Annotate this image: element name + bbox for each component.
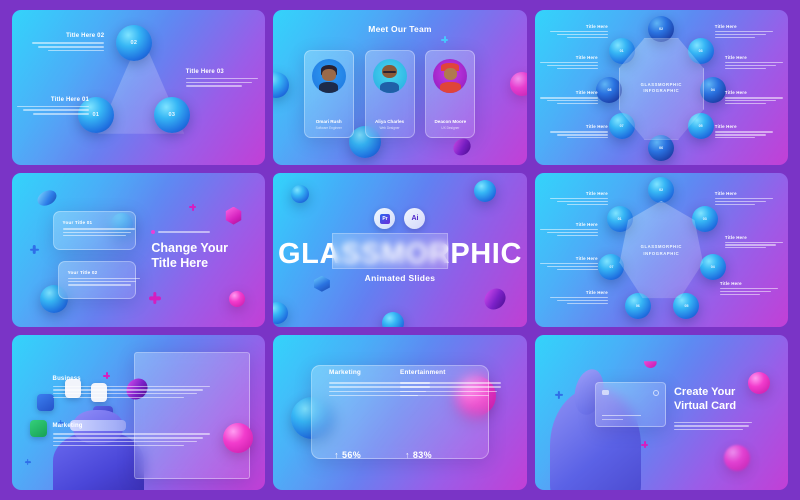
center-line-2: INFOGRAPHIC	[611, 251, 712, 258]
slide-business-marketing[interactable]: Business Marketing	[12, 335, 265, 490]
label-body	[715, 198, 773, 205]
heading-line-2: Title Here	[151, 256, 228, 271]
label-body	[550, 131, 608, 138]
label-title: Title Here	[725, 235, 783, 240]
premiere-icon: Pr	[380, 214, 390, 224]
center-line-1: GLASSMORPHIC	[611, 244, 712, 251]
info-label: Title Here	[720, 281, 778, 297]
node-label: 05	[684, 304, 688, 308]
decor-hexagon	[225, 207, 243, 225]
node-label-02: 02	[131, 40, 138, 46]
team-card-2[interactable]: Aliya Charles Web Designer	[365, 50, 415, 138]
label-body	[725, 242, 783, 249]
slide-octagon-infographic[interactable]: 02 03 04 05 06 07 08 01 GLASSMORPHIC INF…	[535, 10, 788, 165]
text-block-02: Title Here 02	[32, 33, 104, 53]
bullet-dot	[151, 230, 155, 234]
label-body	[540, 229, 598, 236]
decor-sphere	[223, 423, 253, 453]
stat-percent: 83%	[413, 450, 432, 460]
label-body	[540, 62, 598, 69]
node-label: 06	[636, 304, 640, 308]
decor-sphere	[273, 302, 287, 324]
stat-percent: 56%	[342, 450, 361, 460]
heading-line-1: Change Your	[151, 241, 228, 256]
team-card-3[interactable]: Deacon Moore UX Designer	[425, 50, 475, 138]
label-body	[550, 31, 608, 38]
node-label: 01	[618, 217, 622, 221]
decor-torus	[451, 136, 472, 158]
label-title: Title Here	[715, 124, 773, 129]
info-label: Title Here	[725, 90, 783, 106]
info-label: Title Here	[550, 24, 608, 40]
node-sphere[interactable]: 04	[700, 254, 726, 280]
arrow-up-icon: ↑	[334, 450, 339, 460]
decor-sphere	[724, 445, 750, 471]
contactless-icon	[653, 390, 659, 396]
slide-meet-our-team[interactable]: Meet Our Team Omari Rush Software Engine…	[273, 10, 526, 165]
node-label: 04	[711, 265, 715, 269]
info-label: Title Here	[715, 124, 773, 140]
center-line-1: GLASSMORPHIC	[611, 82, 712, 89]
section-body	[53, 433, 210, 446]
slide-stats-panel[interactable]: Marketing Entertainment ↑ 56% ↑ 83%	[273, 335, 526, 490]
slide-heading: Create Your Virtual Card	[674, 386, 736, 414]
center-line-2: INFOGRAPHIC	[611, 88, 712, 95]
text-block-01: Title Here 01	[17, 97, 89, 117]
label-body	[540, 97, 598, 104]
adobe-illustrator-badge[interactable]: Ai	[404, 208, 425, 229]
label-title: Title Here	[540, 90, 598, 95]
card-title: Your Title 01	[63, 220, 93, 225]
label-title: Title Here	[725, 90, 783, 95]
card-body	[63, 228, 135, 238]
label-body	[715, 31, 773, 38]
label-title: Title Here	[540, 55, 598, 60]
block-title: Title Here 01	[17, 97, 89, 103]
arrow-up-icon: ↑	[405, 450, 410, 460]
decor-sparkle	[441, 36, 448, 43]
info-label: Title Here	[715, 24, 773, 40]
kicker-row	[151, 230, 210, 234]
octagon-diagram: 02 03 04 05 06 07 08 01 GLASSMORPHIC INF…	[611, 29, 712, 150]
info-label: Title Here	[540, 90, 598, 106]
app-icon-gallery	[30, 420, 47, 437]
info-label: Title Here	[540, 256, 598, 272]
section-body	[53, 386, 210, 399]
decor-sphere	[291, 185, 309, 203]
member-name: Deacon Moore	[426, 119, 474, 124]
slide-heptagon-infographic[interactable]: 02 03 04 05 06 07 01 GLASSMORPHIC INFOGR…	[535, 173, 788, 328]
label-title: Title Here	[550, 124, 608, 129]
section-business: Business	[53, 376, 210, 401]
decor-sphere	[510, 72, 526, 96]
team-card-1[interactable]: Omari Rush Software Engineer	[304, 50, 354, 138]
heading-line-2: Virtual Card	[674, 400, 736, 414]
hero-subtitle: Animated Slides	[273, 273, 526, 283]
block-body	[17, 106, 89, 115]
info-label: Title Here	[540, 222, 598, 238]
illustrator-icon: Ai	[411, 215, 418, 222]
decor-sphere	[273, 72, 289, 98]
label-body	[550, 297, 608, 304]
slide-triangle-infographic[interactable]: 02 01 03 Title Here 02 Title Here 01 Tit…	[12, 10, 265, 165]
label-title: Title Here	[715, 191, 773, 196]
decor-sparkle	[189, 204, 196, 211]
label-title: Title Here	[725, 55, 783, 60]
node-label-01: 01	[93, 112, 100, 118]
section-title: Business	[53, 376, 210, 382]
label-body	[725, 62, 783, 69]
block-body	[186, 78, 258, 87]
member-role: Software Engineer	[305, 126, 353, 130]
stat-value-entertainment: ↑ 83%	[405, 450, 432, 460]
slide-change-your-title[interactable]: Your Title 01 Your Title 02 Change Your …	[12, 173, 265, 328]
node-label: 03	[703, 217, 707, 221]
info-label: Title Here	[725, 55, 783, 71]
decor-sphere	[229, 291, 245, 307]
adobe-premiere-badge[interactable]: Pr	[374, 208, 395, 229]
node-label: 02	[659, 27, 663, 31]
member-role: UX Designer	[426, 126, 474, 130]
section-marketing: Marketing	[53, 423, 210, 448]
decor-sphere	[474, 180, 496, 202]
label-title: Title Here	[550, 24, 608, 29]
info-label: Title Here	[725, 235, 783, 251]
glass-card-1[interactable]: Your Title 01	[53, 211, 137, 250]
block-title: Title Here 02	[32, 33, 104, 39]
node-label: 07	[609, 265, 613, 269]
label-title: Title Here	[550, 191, 608, 196]
decor-sparkle	[149, 292, 161, 304]
block-title: Title Here 03	[186, 69, 258, 75]
label-title: Title Here	[720, 281, 778, 286]
block-body	[32, 42, 104, 51]
card-number-line	[602, 415, 641, 417]
slide-body	[674, 422, 752, 432]
center-label: GLASSMORPHIC INFOGRAPHIC	[611, 244, 712, 257]
section-title: Marketing	[53, 423, 210, 429]
heptagon-diagram: 02 03 04 05 06 07 01 GLASSMORPHIC INFOGR…	[611, 191, 712, 312]
badge-row: Pr Ai	[273, 208, 526, 229]
decor-sphere	[748, 372, 770, 394]
label-body	[540, 263, 598, 270]
card-chip-icon	[602, 390, 609, 395]
card-body	[68, 278, 140, 288]
member-name: Omari Rush	[305, 119, 353, 124]
decor-torus	[36, 188, 58, 209]
card-holder-line	[602, 419, 623, 420]
info-label: Title Here	[540, 55, 598, 71]
node-label: 05	[699, 124, 703, 128]
card-title: Your Title 02	[68, 270, 98, 275]
node-sphere[interactable]: 02	[648, 177, 674, 203]
kicker-lines	[158, 231, 210, 232]
stat-value-marketing: ↑ 56%	[334, 450, 361, 460]
info-label: Title Here	[550, 290, 608, 306]
info-label: Title Here	[550, 191, 608, 207]
label-title: Title Here	[540, 256, 598, 261]
glass-card-2[interactable]: Your Title 02	[58, 261, 137, 300]
label-body	[720, 288, 778, 295]
member-name: Aliya Charles	[366, 119, 414, 124]
node-label: 03	[699, 49, 703, 53]
label-body	[715, 131, 773, 138]
avatar	[433, 59, 467, 93]
decor-sparkle	[641, 441, 648, 448]
decor-torus	[482, 285, 508, 313]
team-heading: Meet Our Team	[273, 24, 526, 34]
stat-column-entertainment: Entertainment	[400, 369, 501, 398]
frosted-glass-overlay	[332, 233, 449, 269]
slide-hero-title[interactable]: Pr Ai GLASSMORPHIC Animated Slides	[273, 173, 526, 328]
label-body	[550, 198, 608, 205]
decor-sparkle	[555, 391, 563, 399]
label-title: Title Here	[715, 24, 773, 29]
member-role: Web Designer	[366, 126, 414, 130]
decor-moon	[644, 355, 657, 368]
avatar	[373, 59, 407, 93]
label-title: Title Here	[540, 222, 598, 227]
info-label: Title Here	[550, 124, 608, 140]
stat-body	[400, 382, 501, 396]
slide-grid: 02 01 03 Title Here 02 Title Here 01 Tit…	[0, 0, 800, 500]
node-label: 01	[620, 49, 624, 53]
label-body	[725, 97, 783, 104]
text-block-03: Title Here 03	[186, 69, 258, 89]
avatar	[312, 59, 346, 93]
decor-sparkle	[25, 459, 31, 465]
center-label: GLASSMORPHIC INFOGRAPHIC	[611, 82, 712, 95]
node-sphere-03[interactable]: 03	[154, 97, 190, 133]
decor-sphere	[382, 312, 404, 328]
node-label: 02	[659, 188, 663, 192]
slide-heading: Change Your Title Here	[151, 241, 228, 272]
heading-line-1: Create Your	[674, 386, 736, 400]
content-panel	[134, 352, 251, 479]
node-label: 07	[620, 124, 624, 128]
slide-virtual-card[interactable]: Create Your Virtual Card	[535, 335, 788, 490]
node-label: 06	[659, 146, 663, 150]
node-label-03: 03	[169, 112, 176, 118]
decor-sparkle	[30, 245, 39, 254]
label-title: Title Here	[550, 290, 608, 295]
info-label: Title Here	[715, 191, 773, 207]
virtual-credit-card[interactable]	[595, 382, 666, 427]
stat-title: Entertainment	[400, 369, 501, 376]
